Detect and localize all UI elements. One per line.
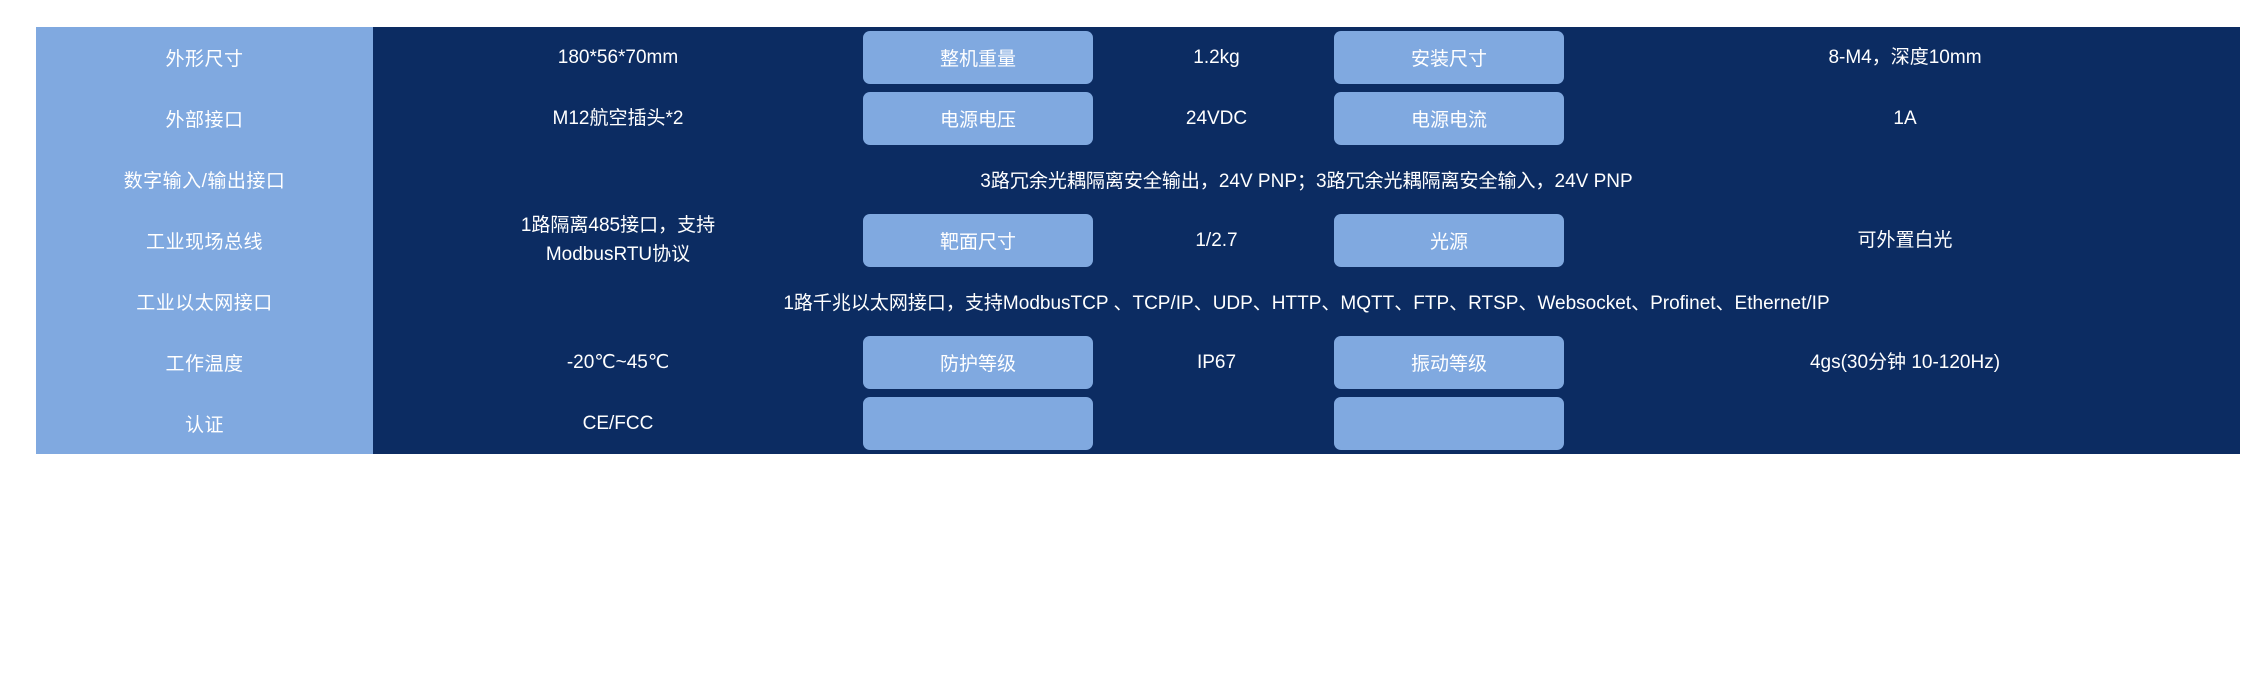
row-value-cell-full: 3路冗余光耦隔离安全输出，24V PNP；3路冗余光耦隔离安全输入，24V PN… (373, 149, 2240, 210)
row-chip-label-2: 光源 (1334, 214, 1564, 267)
row-chip-label-1 (863, 397, 1093, 450)
row-value-cell-2: 1.2kg (1099, 27, 1334, 88)
row-chip-label-2-wrap: 安装尺寸 (1334, 27, 1564, 88)
row-value-cell-2: 24VDC (1099, 88, 1334, 149)
row-chip-label-1-wrap: 防护等级 (863, 332, 1093, 393)
row-value-cell-1: 1路隔离485接口，支持 ModbusRTU协议 (373, 210, 863, 271)
row-label-cell: 外部接口 (36, 88, 373, 149)
table-row: 数字输入/输出接口 3路冗余光耦隔离安全输出，24V PNP；3路冗余光耦隔离安… (36, 149, 2240, 210)
row-label-cell: 工业现场总线 (36, 210, 373, 271)
row-value-cell-2: IP67 (1099, 332, 1334, 393)
row-value-cell-1: 180*56*70mm (373, 27, 863, 88)
row-chip-label-2: 电源电流 (1334, 92, 1564, 145)
row-label-cell: 认证 (36, 393, 373, 454)
product-specification-table: 外形尺寸 180*56*70mm 整机重量 1.2kg 安装尺寸 8-M4，深度… (36, 27, 2240, 454)
row-value-cell-2 (1099, 393, 1334, 454)
row-value-cell-2: 1/2.7 (1099, 210, 1334, 271)
row-value-cell-1: CE/FCC (373, 393, 863, 454)
row-value-cell-3: 4gs(30分钟 10-120Hz) (1570, 332, 2240, 393)
row-label-cell: 工业以太网接口 (36, 271, 373, 332)
row-value-cell-3: 8-M4，深度10mm (1570, 27, 2240, 88)
row-chip-label-2-wrap: 电源电流 (1334, 88, 1564, 149)
row-label-cell: 数字输入/输出接口 (36, 149, 373, 210)
row-value-cell-1: M12航空插头*2 (373, 88, 863, 149)
row-chip-label-1: 防护等级 (863, 336, 1093, 389)
row-chip-label-2: 振动等级 (1334, 336, 1564, 389)
row-chip-label-1-wrap: 电源电压 (863, 88, 1093, 149)
row-chip-label-2 (1334, 397, 1564, 450)
table-row: 认证 CE/FCC (36, 393, 2240, 454)
table-row: 工作温度 -20℃~45℃ 防护等级 IP67 振动等级 4gs(30分钟 10… (36, 332, 2240, 393)
row-label-cell: 外形尺寸 (36, 27, 373, 88)
row-value-cell-3: 可外置白光 (1570, 210, 2240, 271)
row-chip-label-1-wrap (863, 393, 1093, 454)
row-chip-label-2-wrap: 振动等级 (1334, 332, 1564, 393)
row-value-cell-1: -20℃~45℃ (373, 332, 863, 393)
row-value-cell-3: 1A (1570, 88, 2240, 149)
row-chip-label-2: 安装尺寸 (1334, 31, 1564, 84)
table-row: 外形尺寸 180*56*70mm 整机重量 1.2kg 安装尺寸 8-M4，深度… (36, 27, 2240, 88)
table-row: 外部接口 M12航空插头*2 电源电压 24VDC 电源电流 1A (36, 88, 2240, 149)
row-chip-label-2-wrap: 光源 (1334, 210, 1564, 271)
row-chip-label-1-wrap: 整机重量 (863, 27, 1093, 88)
table-row: 工业以太网接口 1路千兆以太网接口，支持ModbusTCP 、TCP/IP、UD… (36, 271, 2240, 332)
row-chip-label-1: 整机重量 (863, 31, 1093, 84)
row-label-cell: 工作温度 (36, 332, 373, 393)
table-row: 工业现场总线 1路隔离485接口，支持 ModbusRTU协议 靶面尺寸 1/2… (36, 210, 2240, 271)
row-chip-label-2-wrap (1334, 393, 1564, 454)
row-value-cell-full: 1路千兆以太网接口，支持ModbusTCP 、TCP/IP、UDP、HTTP、M… (373, 271, 2240, 332)
row-chip-label-1-wrap: 靶面尺寸 (863, 210, 1093, 271)
row-chip-label-1: 电源电压 (863, 92, 1093, 145)
row-chip-label-1: 靶面尺寸 (863, 214, 1093, 267)
row-value-cell-3 (1570, 393, 2240, 454)
